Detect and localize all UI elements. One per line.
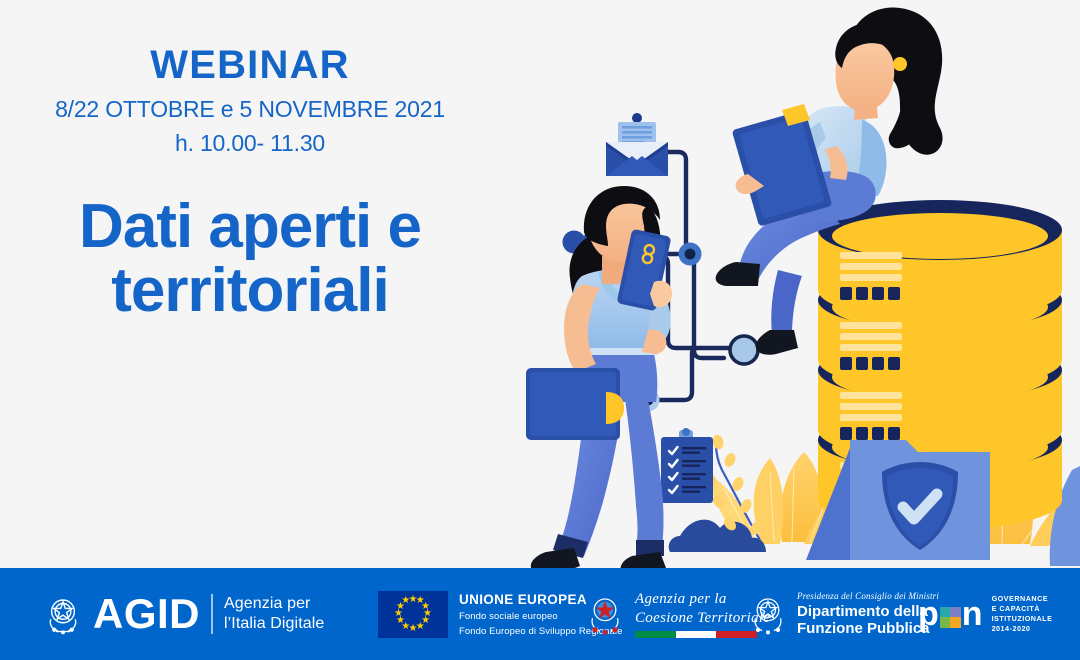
logo-agid[interactable]: AGID Agenzia per l’Italia Digitale bbox=[42, 593, 324, 635]
pon-subtitle: GOVERNANCE E CAPACITÀ ISTITUZIONALE 2014… bbox=[992, 594, 1053, 635]
footer-logo-bar: AGID Agenzia per l’Italia Digitale ★★★★★… bbox=[0, 568, 1080, 660]
pon-line2: E CAPACITÀ bbox=[992, 604, 1053, 614]
pon-color-grid bbox=[940, 607, 961, 628]
envelope-icon bbox=[606, 113, 668, 176]
hair-tie bbox=[893, 57, 907, 71]
eu-flag-icon: ★★★★★★★★★★★★ bbox=[378, 591, 448, 638]
agid-subtitle: Agenzia per l’Italia Digitale bbox=[224, 594, 324, 633]
divider bbox=[211, 594, 213, 634]
agid-wordmark: AGID bbox=[93, 593, 200, 635]
page-title: Dati aperti e territoriali bbox=[0, 195, 500, 324]
webinar-poster: WEBINAR 8/22 OTTOBRE e 5 NOVEMBRE 2021 h… bbox=[0, 0, 1080, 660]
pon-wordmark: p n bbox=[918, 597, 983, 631]
agid-subtitle-line1: Agenzia per bbox=[224, 594, 324, 614]
italian-flag-icon bbox=[635, 631, 757, 638]
agid-subtitle-line2: l’Italia Digitale bbox=[224, 614, 324, 634]
pon-line4: 2014-2020 bbox=[992, 624, 1053, 634]
italian-republic-emblem bbox=[42, 593, 84, 635]
page-title-line2: territoriali bbox=[0, 259, 500, 323]
kicker-webinar: WEBINAR bbox=[0, 44, 500, 86]
logo-dipartimento-funzione-pubblica[interactable]: Presidenza del Consiglio dei Ministri Di… bbox=[748, 591, 939, 638]
person-standing bbox=[526, 186, 672, 572]
logo-agenzia-coesione-territoriale[interactable]: Agenzia per la Coesione Territoriale bbox=[585, 590, 770, 639]
clipboard-checklist-icon bbox=[661, 428, 713, 503]
hero-illustration bbox=[520, 0, 1080, 572]
event-hours: h. 10.00- 11.30 bbox=[0, 130, 500, 157]
page-title-line1: Dati aperti e bbox=[79, 192, 421, 261]
pon-line1: GOVERNANCE bbox=[992, 594, 1053, 604]
database-cylinder bbox=[818, 200, 1062, 320]
pon-letter-p: p bbox=[918, 597, 939, 631]
event-dates: 8/22 OTTOBRE e 5 NOVEMBRE 2021 bbox=[0, 95, 500, 124]
carried-folder bbox=[526, 368, 624, 440]
italian-republic-emblem bbox=[748, 592, 788, 636]
logo-pon-governance[interactable]: p n GOVERNANCE E CAPACITÀ ISTITUZIONALE … bbox=[918, 594, 1052, 635]
poster-text-block: WEBINAR 8/22 OTTOBRE e 5 NOVEMBRE 2021 h… bbox=[0, 44, 500, 324]
pon-line3: ISTITUZIONALE bbox=[992, 614, 1053, 624]
italian-republic-emblem bbox=[585, 592, 625, 636]
pon-letter-n: n bbox=[962, 597, 983, 631]
